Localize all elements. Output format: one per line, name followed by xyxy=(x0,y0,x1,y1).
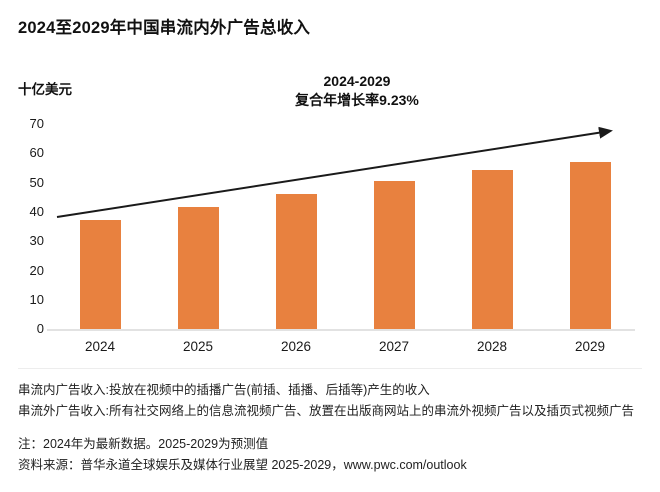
x-tick-2025: 2025 xyxy=(158,339,238,354)
note-source: 资料来源：普华永道全球娱乐及媒体行业展望 2025-2029，www.pwc.c… xyxy=(18,455,654,476)
x-tick-2027: 2027 xyxy=(354,339,434,354)
note-data-footnote: 注：2024年为最新数据。2025-2029为预测值 xyxy=(18,434,654,455)
note-instream-definition: 串流内广告收入:投放在视频中的插播广告(前插、插播、后插等)产生的收入 xyxy=(18,380,654,401)
x-tick-2028: 2028 xyxy=(452,339,532,354)
divider xyxy=(18,368,642,369)
note-spacer xyxy=(18,422,654,434)
x-tick-2029: 2029 xyxy=(550,339,630,354)
trend-arrow-icon xyxy=(0,0,660,370)
note-outstream-definition: 串流外广告收入:所有社交网络上的信息流视频广告、放置在出版商网站上的串流外视频广… xyxy=(18,401,654,422)
chart-plot-area: 十亿美元 2024-2029 复合年增长率9.23% 70 60 50 40 3… xyxy=(0,0,660,370)
footnotes: 串流内广告收入:投放在视频中的插播广告(前插、插播、后插等)产生的收入 串流外广… xyxy=(18,380,654,476)
x-tick-2026: 2026 xyxy=(256,339,336,354)
x-tick-2024: 2024 xyxy=(60,339,140,354)
